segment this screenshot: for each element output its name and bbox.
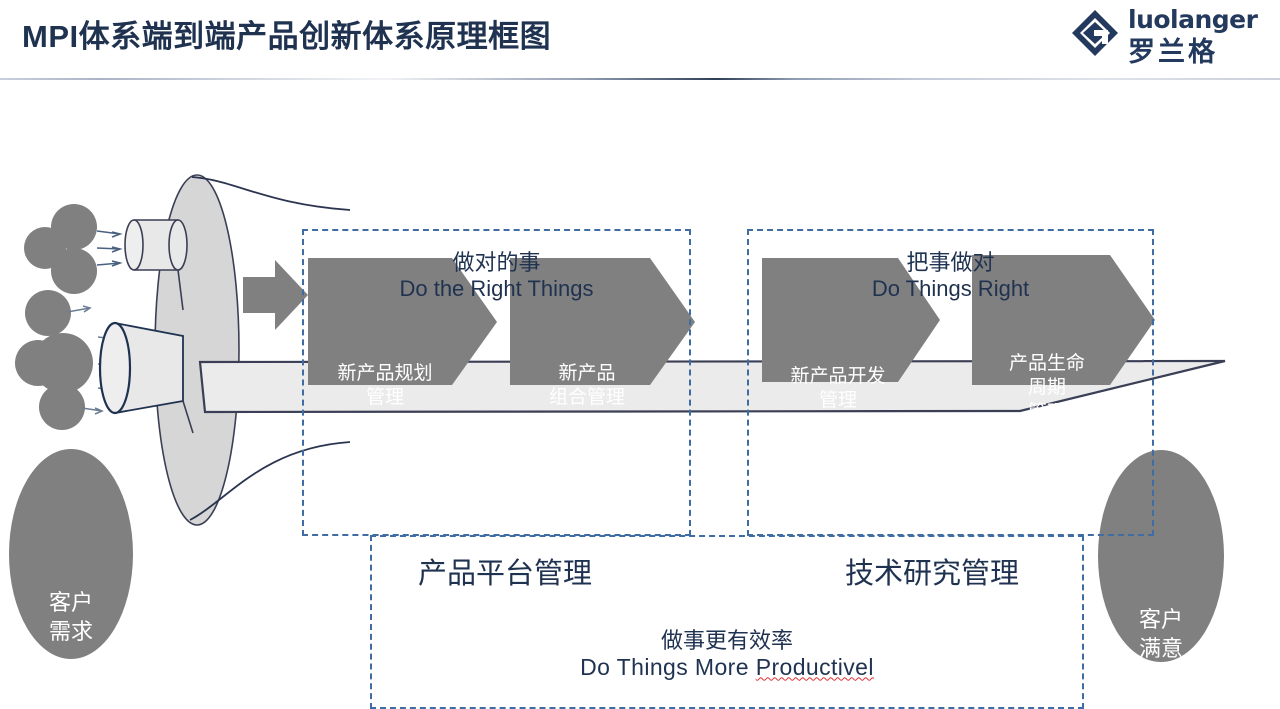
label-product-platform-management: 产品平台管理 [418,550,592,592]
section-heading-left: 做对的事 Do the Right Things [302,250,691,302]
input-arrows-top-group [97,231,120,266]
section-heading-left-en: Do the Right Things [302,276,691,302]
footer-caption: 做事更有效率 Do Things More Productivel [370,628,1084,682]
footer-caption-en-part1: Do Things More [580,654,756,680]
intake-cylinder [125,220,187,270]
input-dots-top-group [24,204,97,294]
section-heading-right-cn: 把事做对 [747,250,1154,276]
intake-cone [100,323,183,413]
logo-text-chinese: 罗兰格 [1128,30,1218,69]
feed-arrow [243,260,308,330]
input-ellipse [9,449,133,659]
diagram-canvas: 做对的事 Do the Right Things 把事做对 Do Things … [0,80,1280,709]
footer-caption-en-misspelled: Productivel [756,654,874,680]
footer-caption-cn: 做事更有效率 [370,628,1084,654]
brand-logo: luolanger 罗兰格 [1070,4,1260,62]
diamond-logo-icon [1070,8,1120,58]
page-header: MPI体系端到端产品创新体系原理框图 luolanger 罗兰格 [0,0,1280,80]
section-heading-right-en: Do Things Right [747,276,1154,302]
input-dots-bottom-group [15,290,93,430]
page-title: MPI体系端到端产品创新体系原理框图 [22,11,551,56]
label-technology-research-management: 技术研究管理 [845,550,1019,592]
section-heading-left-cn: 做对的事 [302,250,691,276]
footer-caption-en: Do Things More Productivel [370,654,1084,682]
section-heading-right: 把事做对 Do Things Right [747,250,1154,302]
